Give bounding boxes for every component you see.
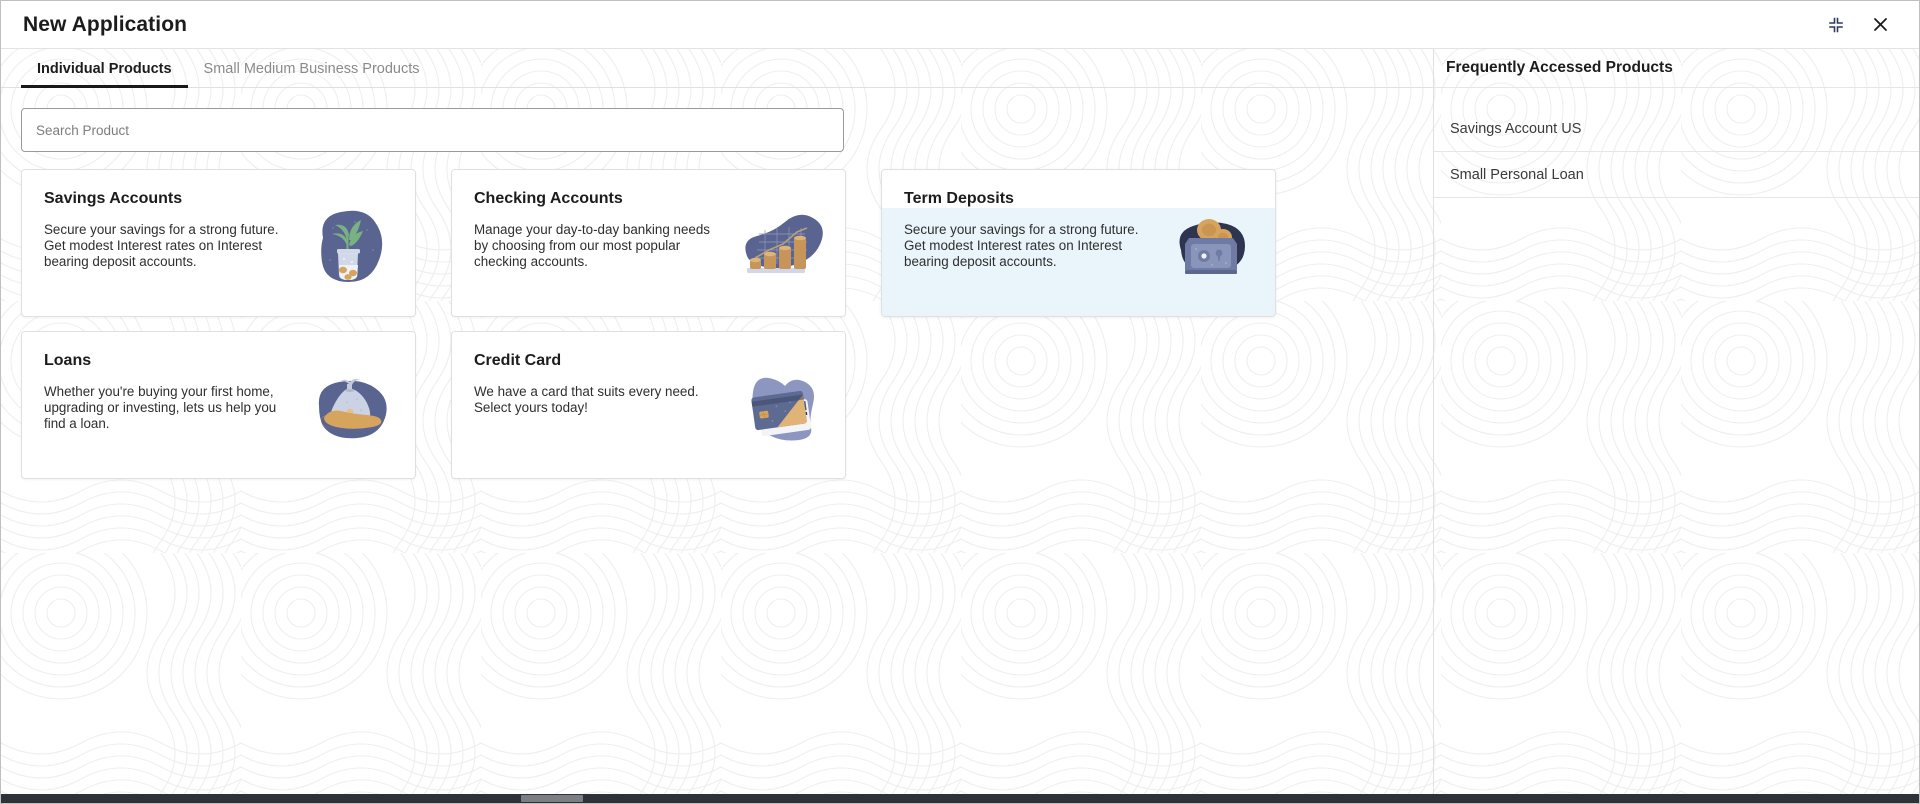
window-titlebar: New Application xyxy=(1,1,1919,49)
card-description: Secure your savings for a strong future.… xyxy=(904,222,1140,270)
product-tabs: Individual Products Small Medium Busines… xyxy=(1,49,1433,88)
savings-jar-illustration xyxy=(301,210,397,284)
card-description: We have a card that suits every need. Se… xyxy=(474,384,710,416)
tab-small-medium-business-products[interactable]: Small Medium Business Products xyxy=(188,61,436,87)
card-header: Savings Accounts xyxy=(22,170,415,208)
card-title: Credit Card xyxy=(474,352,823,370)
horizontal-scrollbar[interactable] xyxy=(1,794,1919,803)
safe-vault-illustration xyxy=(1161,210,1257,284)
coin-stacks-chart-illustration xyxy=(731,210,827,284)
window-controls xyxy=(1825,14,1897,36)
products-pane: Individual Products Small Medium Busines… xyxy=(1,49,1433,794)
product-card-savings-accounts[interactable]: Savings Accounts Secure your savings for… xyxy=(21,169,416,317)
collapse-icon[interactable] xyxy=(1825,14,1847,36)
card-body: Whether you're buying your first home, u… xyxy=(22,370,415,478)
product-card-grid: Savings Accounts Secure your savings for… xyxy=(1,152,1433,493)
list-item[interactable]: Savings Account US xyxy=(1434,106,1919,152)
card-header: Loans xyxy=(22,332,415,370)
hand-money-bag-illustration xyxy=(301,372,397,446)
card-body: We have a card that suits every need. Se… xyxy=(452,370,845,478)
product-card-credit-card[interactable]: Credit Card We have a card that suits ev… xyxy=(451,331,846,479)
list-item-label: Savings Account US xyxy=(1450,121,1581,137)
card-header: Credit Card xyxy=(452,332,845,370)
product-card-slot: Savings Accounts Secure your savings for… xyxy=(21,169,451,331)
frequently-accessed-header: Frequently Accessed Products xyxy=(1434,49,1919,88)
product-card-checking-accounts[interactable]: Checking Accounts Manage your day-to-day… xyxy=(451,169,846,317)
tab-label: Small Medium Business Products xyxy=(204,61,420,77)
card-title: Loans xyxy=(44,352,393,370)
credit-cards-illustration xyxy=(731,372,827,446)
card-description: Secure your savings for a strong future.… xyxy=(44,222,280,270)
tab-individual-products[interactable]: Individual Products xyxy=(21,61,188,87)
search-area xyxy=(1,88,1433,152)
product-card-slot: Checking Accounts Manage your day-to-day… xyxy=(451,169,881,331)
product-card-slot: Loans Whether you're buying your first h… xyxy=(21,331,451,493)
card-header: Term Deposits xyxy=(882,170,1275,208)
list-item-label: Small Personal Loan xyxy=(1450,167,1584,183)
frequently-accessed-list: Savings Account US Small Personal Loan xyxy=(1434,88,1919,198)
new-application-window: New Application xyxy=(0,0,1920,804)
list-item[interactable]: Small Personal Loan xyxy=(1434,152,1919,198)
card-title: Savings Accounts xyxy=(44,190,393,208)
window-body: Individual Products Small Medium Busines… xyxy=(1,49,1919,794)
product-card-slot: Credit Card We have a card that suits ev… xyxy=(451,331,881,493)
card-description: Manage your day-to-day banking needs by … xyxy=(474,222,710,270)
close-icon[interactable] xyxy=(1869,14,1891,36)
product-card-slot: Term Deposits Secure your savings for a … xyxy=(881,169,1311,331)
card-body: Secure your savings for a strong future.… xyxy=(882,208,1275,316)
card-title: Term Deposits xyxy=(904,190,1253,208)
card-title: Checking Accounts xyxy=(474,190,823,208)
scrollbar-thumb[interactable] xyxy=(521,795,583,802)
search-input[interactable] xyxy=(21,108,844,152)
product-card-loans[interactable]: Loans Whether you're buying your first h… xyxy=(21,331,416,479)
card-description: Whether you're buying your first home, u… xyxy=(44,384,280,432)
tab-label: Individual Products xyxy=(37,61,172,77)
product-card-term-deposits[interactable]: Term Deposits Secure your savings for a … xyxy=(881,169,1276,317)
card-body: Secure your savings for a strong future.… xyxy=(22,208,415,316)
page-title: New Application xyxy=(23,13,187,37)
frequently-accessed-title: Frequently Accessed Products xyxy=(1446,59,1673,77)
card-header: Checking Accounts xyxy=(452,170,845,208)
card-body: Manage your day-to-day banking needs by … xyxy=(452,208,845,316)
frequently-accessed-pane: Frequently Accessed Products Savings Acc… xyxy=(1433,49,1919,794)
